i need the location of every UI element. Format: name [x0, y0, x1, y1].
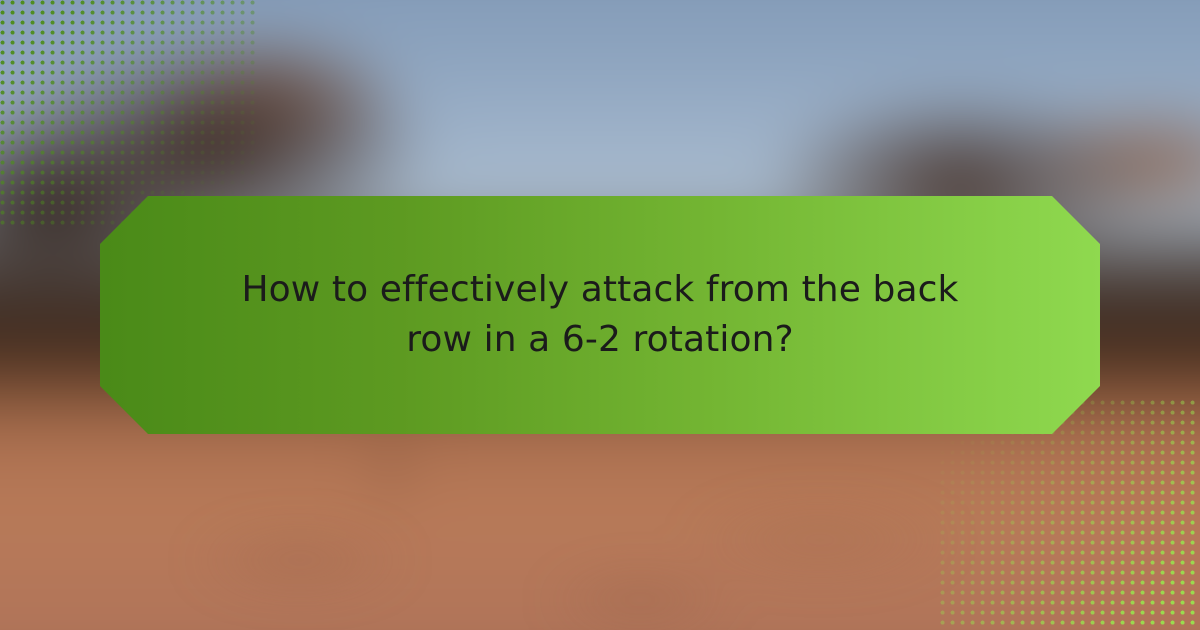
- title-banner: How to effectively attack from the back …: [100, 196, 1100, 434]
- page-title: How to effectively attack from the back …: [140, 265, 1060, 365]
- social-card: How to effectively attack from the back …: [0, 0, 1200, 630]
